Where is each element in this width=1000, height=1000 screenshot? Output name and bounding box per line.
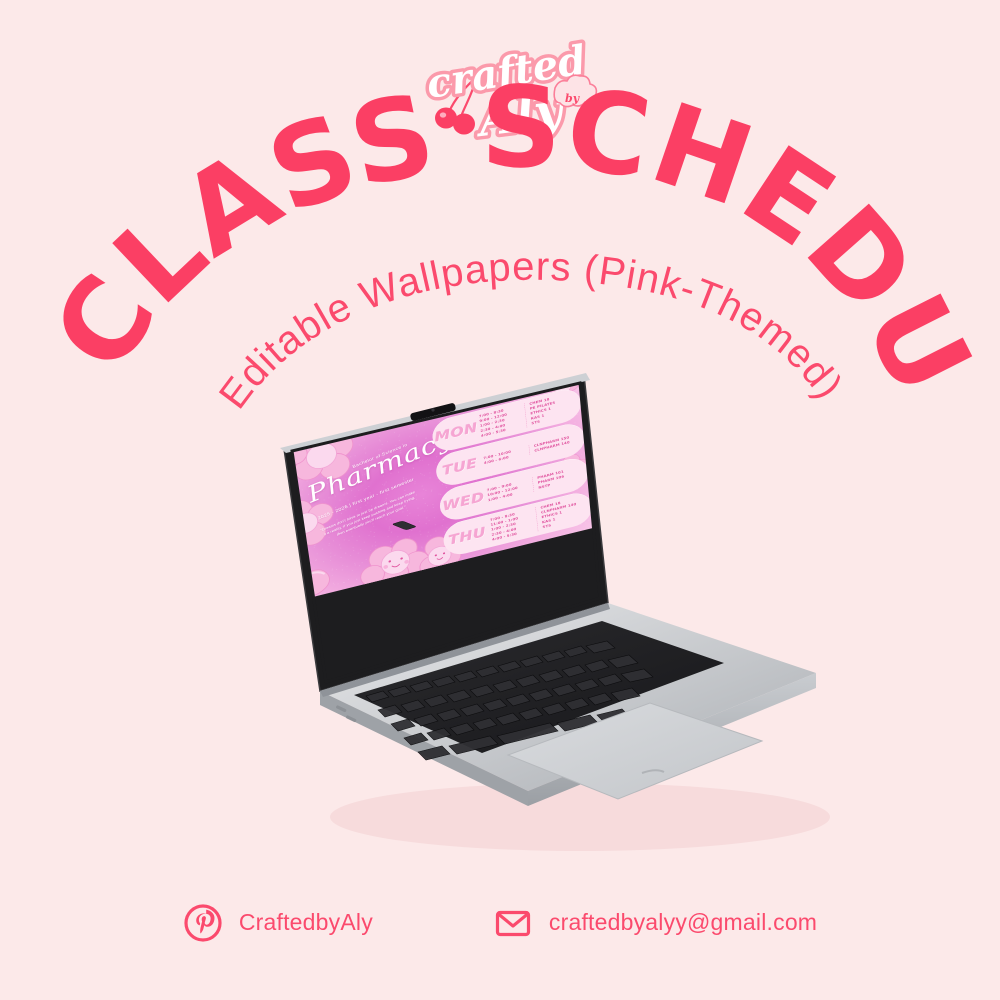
pinterest-contact[interactable]: CraftedbyAly [183, 903, 373, 943]
page-title: CLASS SCHEDULE [0, 0, 996, 415]
envelope-icon [493, 903, 533, 943]
email-contact[interactable]: craftedbyalyy@gmail.com [493, 903, 817, 943]
poster-canvas: crafted Aly by CLASS SCHEDULE Editable W… [0, 0, 1000, 1000]
schedule-classes: CHEM 18 CLNPHARM 140 ETHICS 1 KAS 1 STS [536, 493, 594, 531]
schedule-times: 7:00 - 8:30 9:00 - 12:00 1:00 - 2:30 2:3… [479, 403, 528, 439]
schedule-day-label: TUE [436, 454, 485, 480]
schedule-day-label: THU [443, 523, 492, 549]
pinterest-icon [183, 903, 223, 943]
schedule-day-label: MON [432, 419, 481, 445]
schedule-times: 7:00 - 8:30 11:00 - 1:00 1:00 - 2:30 2:3… [490, 507, 539, 543]
schedule-times: 7:00 - 10:00 4:00 - 6:00 [483, 445, 530, 466]
schedule-classes: CLNPHARM 150 CLNPHARM 140 [529, 431, 585, 454]
schedule-classes: PHARM 101 PHARM 106 NSTP [533, 464, 590, 492]
schedule-day-label: WED [439, 488, 488, 514]
pinterest-handle: CraftedbyAly [239, 909, 373, 936]
contact-footer: CraftedbyAly craftedbyalyy@gmail.com [0, 885, 1000, 960]
schedule-times: 7:00 - 9:00 10:00 - 12:00 1:00 - 4:00 [487, 477, 535, 503]
laptop-mockup: Bachelor of Science in Pharmacy 2025 - 2… [250, 355, 870, 875]
email-address: craftedbyalyy@gmail.com [549, 909, 817, 936]
